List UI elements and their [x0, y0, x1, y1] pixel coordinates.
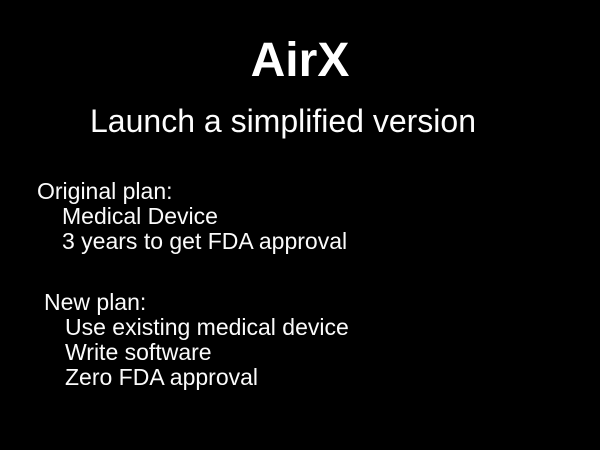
slide-title: AirX	[0, 33, 600, 89]
original-plan-heading: Original plan:	[37, 179, 347, 204]
new-plan-block: New plan: Use existing medical device Wr…	[44, 290, 349, 390]
original-plan-item: Medical Device	[37, 204, 347, 229]
new-plan-item: Write software	[44, 340, 349, 365]
presentation-slide: AirX Launch a simplified version Origina…	[0, 0, 600, 450]
slide-subtitle: Launch a simplified version	[90, 101, 476, 141]
new-plan-heading: New plan:	[44, 290, 349, 315]
original-plan-block: Original plan: Medical Device 3 years to…	[37, 179, 347, 254]
new-plan-item: Zero FDA approval	[44, 365, 349, 390]
new-plan-item: Use existing medical device	[44, 315, 349, 340]
original-plan-item: 3 years to get FDA approval	[37, 229, 347, 254]
